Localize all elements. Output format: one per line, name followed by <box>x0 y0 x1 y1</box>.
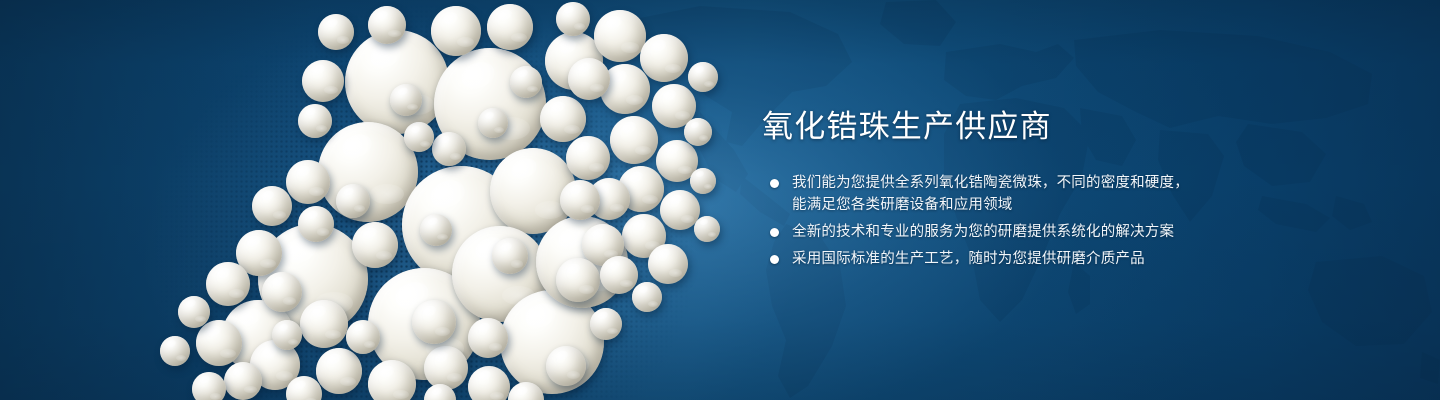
list-item: 全新的技术和专业的服务为您的研磨提供系统化的解决方案 <box>762 221 1362 243</box>
bullet-line: 全新的技术和专业的服务为您的研磨提供系统化的解决方案 <box>792 221 1362 243</box>
zirconia-beads-photo <box>0 0 760 400</box>
bullet-dot-icon <box>770 255 779 264</box>
list-item: 采用国际标准的生产工艺，随时为您提供研磨介质产品 <box>762 248 1362 270</box>
banner-copy: 氧化锆珠生产供应商 我们能为您提供全系列氧化锆陶瓷微珠，不同的密度和硬度， 能满… <box>762 108 1362 270</box>
bullet-line: 我们能为您提供全系列氧化锆陶瓷微珠，不同的密度和硬度， <box>792 172 1362 194</box>
bullet-line: 采用国际标准的生产工艺，随时为您提供研磨介质产品 <box>792 248 1362 270</box>
bullet-dot-icon <box>770 179 779 188</box>
list-item: 我们能为您提供全系列氧化锆陶瓷微珠，不同的密度和硬度， 能满足您各类研磨设备和应… <box>762 172 1362 216</box>
bullet-line: 能满足您各类研磨设备和应用领域 <box>792 194 1362 216</box>
feature-bullet-list: 我们能为您提供全系列氧化锆陶瓷微珠，不同的密度和硬度， 能满足您各类研磨设备和应… <box>762 172 1362 270</box>
bullet-dot-icon <box>770 228 779 237</box>
page-title: 氧化锆珠生产供应商 <box>762 108 1362 146</box>
hero-banner: 氧化锆珠生产供应商 我们能为您提供全系列氧化锆陶瓷微珠，不同的密度和硬度， 能满… <box>0 0 1440 400</box>
